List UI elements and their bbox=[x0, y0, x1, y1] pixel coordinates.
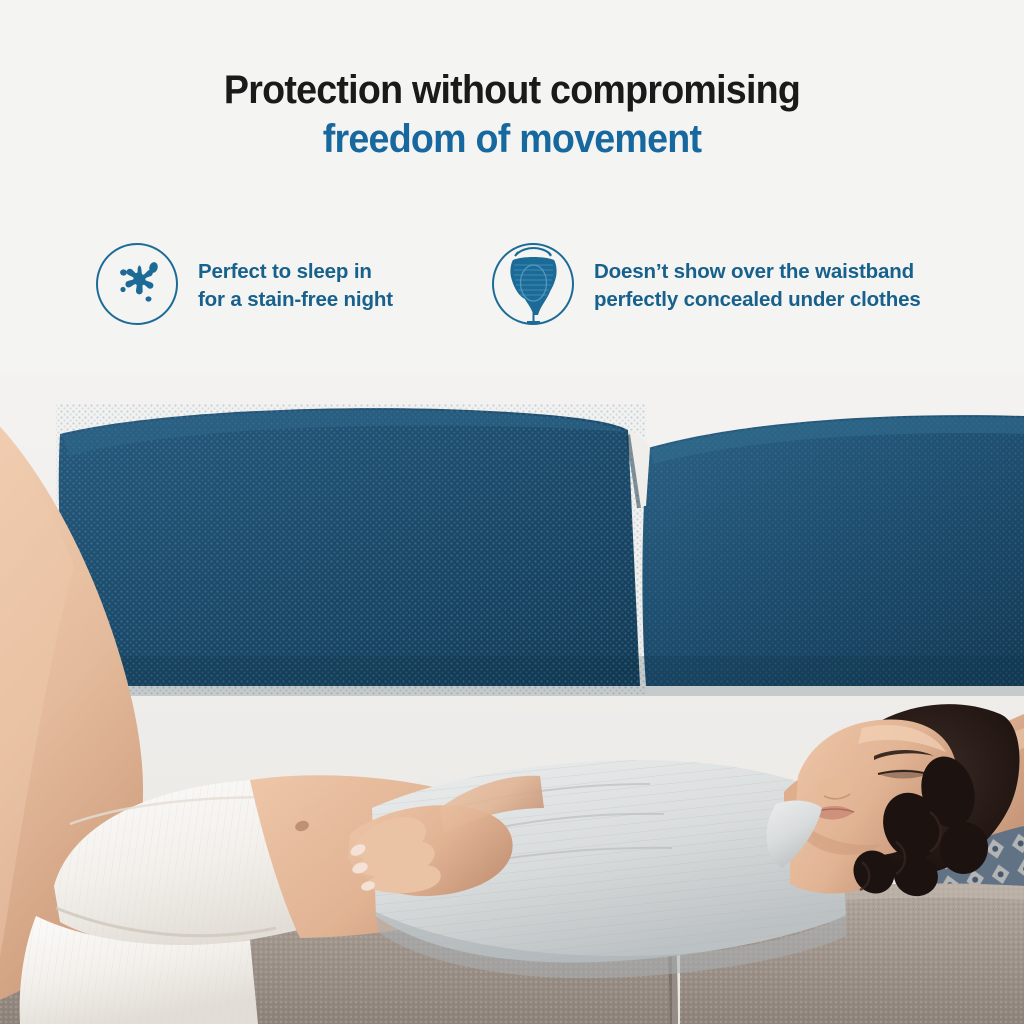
feature-text-concealed-line-2: perfectly concealed under clothes bbox=[594, 286, 921, 314]
feature-item-concealed: Doesn’t show over the waistband perfectl… bbox=[492, 243, 921, 329]
headline-line-2: freedom of movement bbox=[31, 114, 994, 164]
headline-line-1: Protection without compromising bbox=[31, 66, 994, 114]
underwear-brief-icon bbox=[492, 243, 578, 329]
lifestyle-photo bbox=[0, 356, 1024, 1024]
underwear-brief-glyph bbox=[492, 243, 578, 329]
header-panel: Protection without compromising freedom … bbox=[0, 0, 1024, 372]
feature-list: Perfect to sleep in for a stain-free nig… bbox=[0, 243, 1024, 343]
feature-text-concealed: Doesn’t show over the waistband perfectl… bbox=[594, 258, 921, 314]
splash-drop-glyph bbox=[96, 243, 182, 329]
product-marketing-image: Protection without compromising freedom … bbox=[0, 0, 1024, 1024]
lifestyle-photo-art bbox=[0, 356, 1024, 1024]
feature-item-sleep: Perfect to sleep in for a stain-free nig… bbox=[96, 243, 393, 329]
feature-text-sleep-line-2: for a stain-free night bbox=[198, 286, 393, 314]
feature-text-concealed-line-1: Doesn’t show over the waistband bbox=[594, 258, 921, 286]
page-title: Protection without compromising freedom … bbox=[0, 66, 1024, 164]
feature-text-sleep: Perfect to sleep in for a stain-free nig… bbox=[198, 258, 393, 314]
feature-text-sleep-line-1: Perfect to sleep in bbox=[198, 258, 393, 286]
splash-drop-icon bbox=[96, 243, 182, 329]
